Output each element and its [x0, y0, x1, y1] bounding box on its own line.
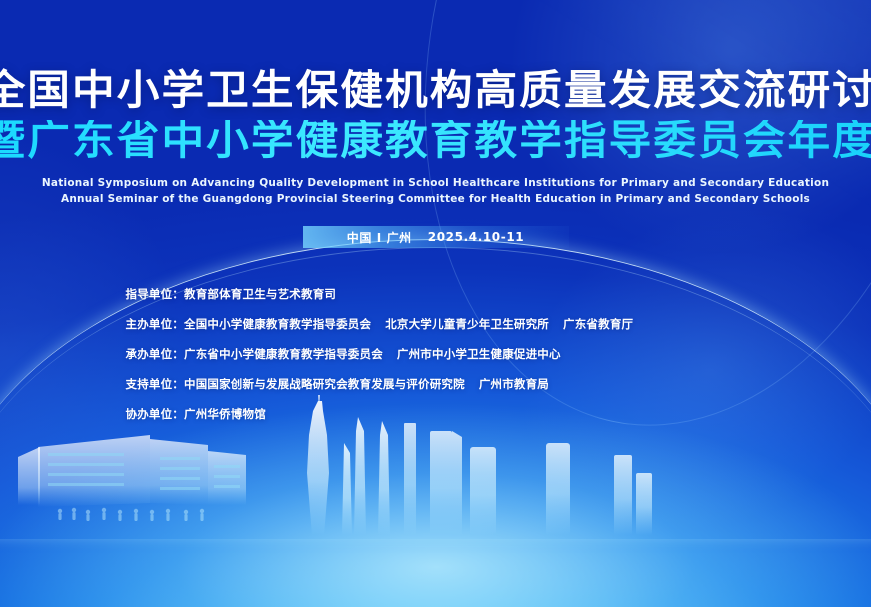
organizations-block: 指导单位：教育部体育卫生与艺术教育司主办单位：全国中小学健康教育教学指导委员会北… — [0, 286, 871, 436]
organization-name: 中国国家创新与发展战略研究会教育发展与评价研究院 — [184, 376, 465, 392]
organization-name: 北京大学儿童青少年卫生研究所 — [385, 316, 549, 332]
organization-name: 广州华侨博物馆 — [184, 406, 266, 422]
organization-name: 教育部体育卫生与艺术教育司 — [184, 286, 336, 302]
organization-values: 中国国家创新与发展战略研究会教育发展与评价研究院广州市教育局 — [184, 376, 549, 392]
organization-values: 教育部体育卫生与艺术教育司 — [184, 286, 336, 302]
organization-name: 广东省中小学健康教育教学指导委员会 — [184, 346, 383, 362]
event-location: 中国 I 广州 — [347, 229, 412, 246]
organization-name: 全国中小学健康教育教学指导委员会 — [184, 316, 371, 332]
organization-values: 全国中小学健康教育教学指导委员会北京大学儿童青少年卫生研究所广东省教育厅 — [184, 316, 633, 332]
organization-label: 指导单位： — [126, 286, 185, 302]
organization-label: 协办单位： — [126, 406, 185, 422]
conference-poster: 全国中小学卫生保健机构高质量发展交流研讨活动 暨广东省中小学健康教育教学指导委员… — [0, 0, 871, 607]
organization-label: 支持单位： — [126, 376, 185, 392]
title-line-1-english: National Symposium on Advancing Quality … — [0, 175, 871, 191]
event-info-badge-text: 中国 I 广州 2025.4.10-11 — [303, 226, 569, 248]
organization-row: 主办单位：全国中小学健康教育教学指导委员会北京大学儿童青少年卫生研究所广东省教育… — [126, 316, 746, 332]
organization-name: 广东省教育厅 — [563, 316, 633, 332]
organization-row: 承办单位：广东省中小学健康教育教学指导委员会广州市中小学卫生健康促进中心 — [126, 346, 746, 362]
event-date: 2025.4.10-11 — [428, 230, 524, 244]
school-building — [18, 435, 246, 507]
school-students — [58, 508, 204, 521]
organization-name: 广州市中小学卫生健康促进中心 — [397, 346, 561, 362]
organization-name: 广州市教育局 — [479, 376, 549, 392]
title-line-1-chinese: 全国中小学卫生保健机构高质量发展交流研讨活动 — [0, 70, 871, 111]
title-english-block: National Symposium on Advancing Quality … — [0, 175, 871, 208]
organization-label: 主办单位： — [126, 316, 185, 332]
skyline-right-buildings — [546, 443, 652, 535]
school-building-windows — [48, 453, 240, 490]
organization-row: 指导单位：教育部体育卫生与艺术教育司 — [126, 286, 746, 302]
skyline-center-buildings — [404, 423, 496, 535]
title-line-2-chinese: 暨广东省中小学健康教育教学指导委员会年度研讨活动 — [0, 120, 871, 161]
title-line-2-english: Annual Seminar of the Guangdong Provinci… — [0, 191, 871, 207]
organization-values: 广东省中小学健康教育教学指导委员会广州市中小学卫生健康促进中心 — [184, 346, 561, 362]
organization-row: 协办单位：广州华侨博物馆 — [126, 406, 746, 422]
event-info-badge: 中国 I 广州 2025.4.10-11 — [303, 226, 569, 248]
organization-values: 广州华侨博物馆 — [184, 406, 266, 422]
event-info-badge-wrapper: 中国 I 广州 2025.4.10-11 — [0, 226, 871, 248]
organization-row: 支持单位：中国国家创新与发展战略研究会教育发展与评价研究院广州市教育局 — [126, 376, 746, 392]
poster-title-block: 全国中小学卫生保健机构高质量发展交流研讨活动 暨广东省中小学健康教育教学指导委员… — [0, 70, 871, 208]
organizations-list: 指导单位：教育部体育卫生与艺术教育司主办单位：全国中小学健康教育教学指导委员会北… — [126, 286, 746, 436]
organization-label: 承办单位： — [126, 346, 185, 362]
